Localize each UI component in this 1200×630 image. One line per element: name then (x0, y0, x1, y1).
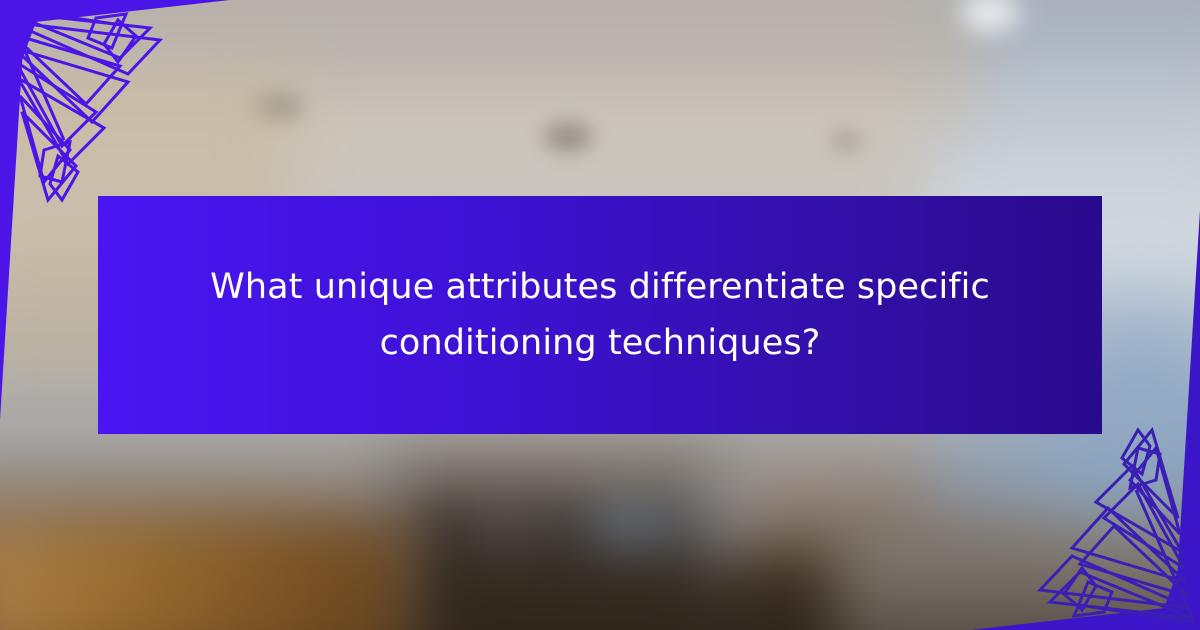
quote-card: What unique attributes differentiate spe… (98, 196, 1102, 434)
quote-card-graphic: What unique attributes differentiate spe… (0, 0, 1200, 630)
quote-headline: What unique attributes differentiate spe… (170, 259, 1030, 371)
